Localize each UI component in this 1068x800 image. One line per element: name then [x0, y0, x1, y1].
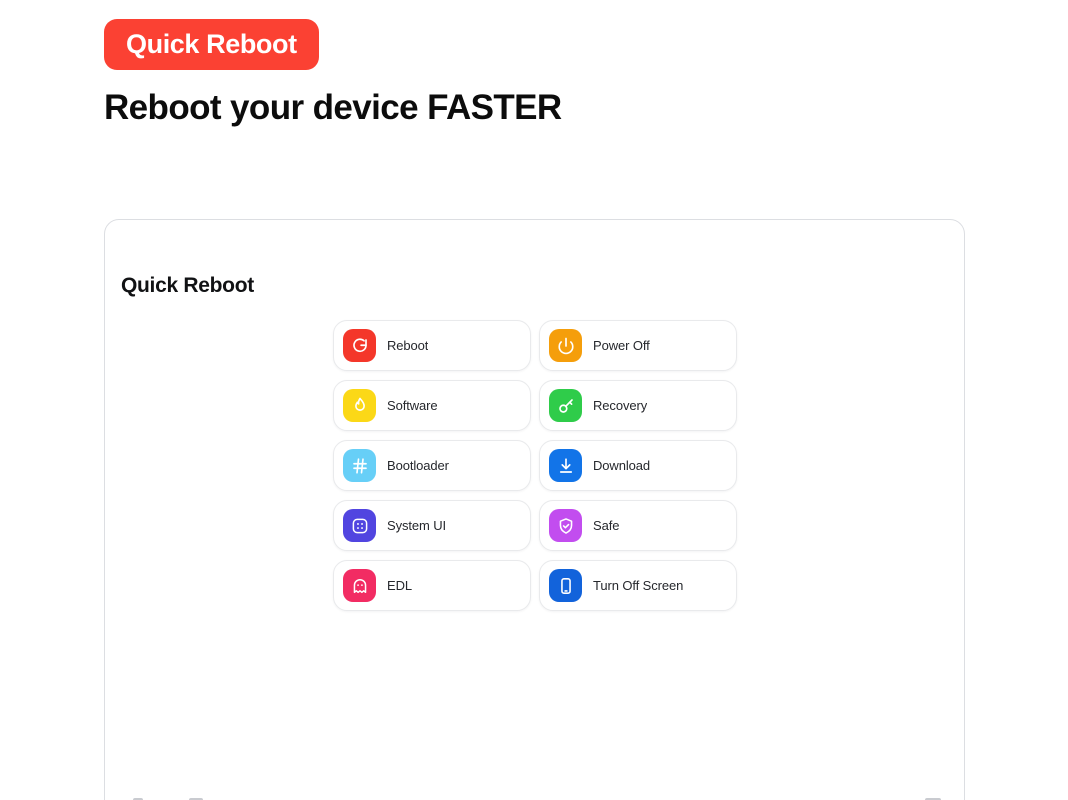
quick-reboot-badge: Quick Reboot: [104, 19, 319, 70]
quick-action-safe[interactable]: Safe: [539, 500, 737, 551]
quick-action-label: Power Off: [593, 338, 650, 353]
key-icon: [549, 389, 582, 422]
card-title: Quick Reboot: [121, 274, 254, 298]
smartphone-icon: [549, 569, 582, 602]
quick-action-turn-off-screen[interactable]: Turn Off Screen: [539, 560, 737, 611]
quick-reboot-button-grid: Reboot Power Off Software: [333, 320, 737, 611]
quick-action-label: Bootloader: [387, 458, 449, 473]
reboot-icon: [343, 329, 376, 362]
quick-action-recovery[interactable]: Recovery: [539, 380, 737, 431]
shield-check-icon: [549, 509, 582, 542]
power-icon: [549, 329, 582, 362]
download-icon: [549, 449, 582, 482]
ghost-icon: [343, 569, 376, 602]
hash-icon: [343, 449, 376, 482]
quick-action-label: Recovery: [593, 398, 647, 413]
quick-action-label: Reboot: [387, 338, 428, 353]
page-headline: Reboot your device FASTER: [104, 88, 562, 128]
quick-action-label: EDL: [387, 578, 412, 593]
quick-action-label: Software: [387, 398, 438, 413]
quick-action-power-off[interactable]: Power Off: [539, 320, 737, 371]
quick-action-reboot[interactable]: Reboot: [333, 320, 531, 371]
quick-action-label: Safe: [593, 518, 619, 533]
quick-action-label: System UI: [387, 518, 446, 533]
quick-action-system-ui[interactable]: System UI: [333, 500, 531, 551]
quick-action-software[interactable]: Software: [333, 380, 531, 431]
quick-action-edl[interactable]: EDL: [333, 560, 531, 611]
page-root: Quick Reboot Reboot your device FASTER Q…: [0, 0, 1068, 800]
system-grid-icon: [343, 509, 376, 542]
quick-action-bootloader[interactable]: Bootloader: [333, 440, 531, 491]
flame-icon: [343, 389, 376, 422]
quick-reboot-card: Quick Reboot Reboot Power Off: [104, 219, 965, 800]
quick-action-label: Download: [593, 458, 650, 473]
quick-action-label: Turn Off Screen: [593, 578, 683, 593]
quick-action-download[interactable]: Download: [539, 440, 737, 491]
